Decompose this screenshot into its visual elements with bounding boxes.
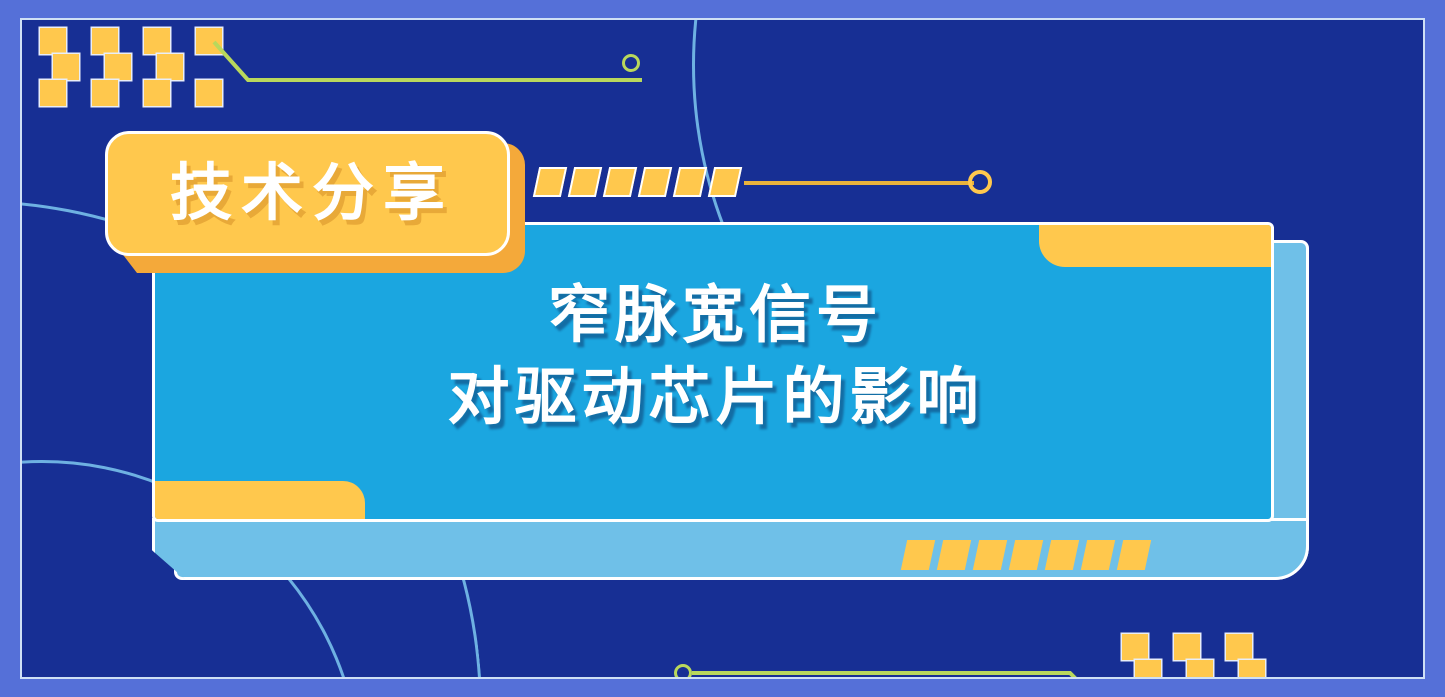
dash-segment xyxy=(901,540,935,570)
yellow-connector-line-top xyxy=(744,181,974,185)
dash-row-top xyxy=(536,167,739,197)
checker-cell xyxy=(1174,634,1200,660)
green-ring-top xyxy=(622,54,640,72)
checkerboard-decoration-top-left xyxy=(40,28,210,110)
dash-segment xyxy=(937,540,971,570)
green-polyline-top xyxy=(208,38,648,86)
checker-cell xyxy=(1135,660,1161,679)
poster-canvas: 窄脉宽信号 对驱动芯片的影响 技术分享 xyxy=(0,0,1445,697)
dash-segment xyxy=(1045,540,1079,570)
dash-row-bottom xyxy=(904,540,1148,570)
card-accent-bar-top-right xyxy=(1039,225,1271,267)
checker-cell xyxy=(1187,660,1213,679)
poster-title-line-1: 窄脉宽信号 xyxy=(155,275,1271,357)
poster-title-line-2: 对驱动芯片的影响 xyxy=(155,357,1271,439)
checkerboard-decoration-bottom-right xyxy=(1122,634,1272,679)
dash-segment xyxy=(568,167,602,197)
dash-segment xyxy=(708,167,742,197)
dash-segment xyxy=(1117,540,1151,570)
dash-segment xyxy=(603,167,637,197)
checker-cell xyxy=(92,80,118,106)
checker-cell xyxy=(1226,634,1252,660)
checker-cell xyxy=(40,80,66,106)
checker-cell xyxy=(144,80,170,106)
checker-cell xyxy=(157,54,183,80)
dash-segment xyxy=(1009,540,1043,570)
poster-title: 窄脉宽信号 对驱动芯片的影响 xyxy=(155,275,1271,440)
checker-cell xyxy=(1122,634,1148,660)
checker-cell xyxy=(92,28,118,54)
checker-cell xyxy=(1239,660,1265,679)
green-polyline-bottom xyxy=(690,665,1110,679)
badge-label: 技术分享 xyxy=(161,163,454,225)
checker-cell xyxy=(53,54,79,80)
dash-segment xyxy=(673,167,707,197)
checker-cell xyxy=(40,28,66,54)
checker-cell xyxy=(144,28,170,54)
dash-segment xyxy=(973,540,1007,570)
yellow-ring-top xyxy=(968,170,992,194)
checker-cell xyxy=(105,54,131,80)
dash-segment xyxy=(1081,540,1115,570)
card-accent-bar-bottom-left xyxy=(155,481,365,519)
dash-segment xyxy=(638,167,672,197)
badge-group: 技术分享 xyxy=(105,131,510,256)
dash-segment xyxy=(533,167,567,197)
badge: 技术分享 xyxy=(105,131,510,256)
